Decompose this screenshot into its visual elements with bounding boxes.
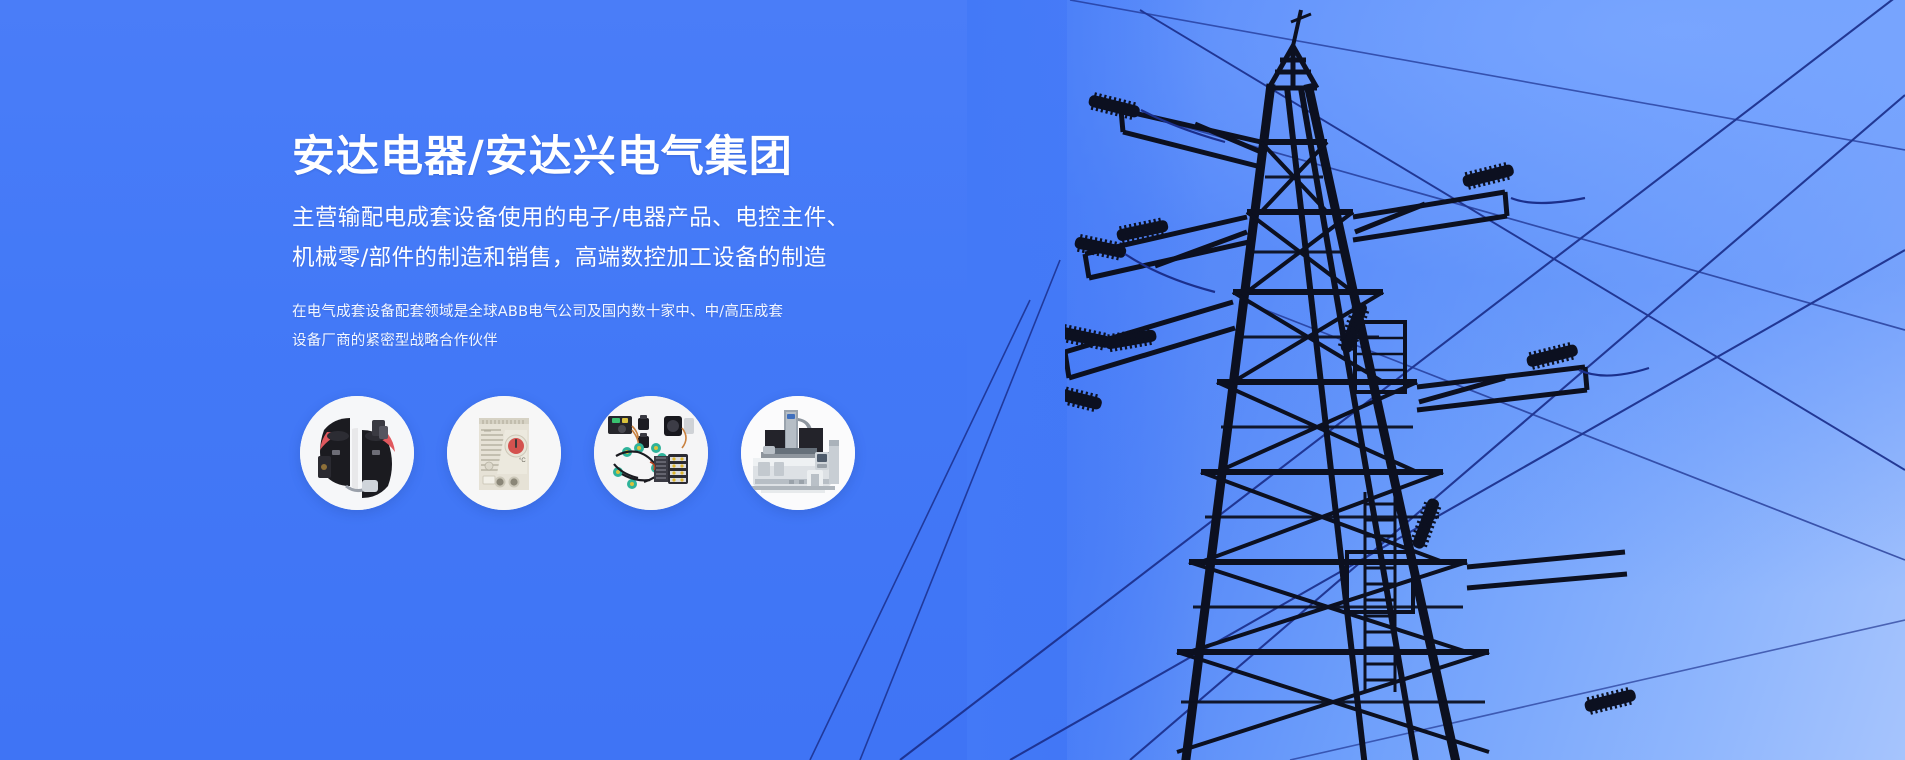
- banner-copy: 安达电器/安达兴电气集团 主营输配电成套设备使用的电子/电器产品、电控主件、 机…: [292, 133, 912, 355]
- hero-banner: 安达电器/安达兴电气集团 主营输配电成套设备使用的电子/电器产品、电控主件、 机…: [0, 0, 1905, 760]
- note-line-2: 设备厂商的紧密型战略合作伙伴: [292, 327, 912, 355]
- page-title: 安达电器/安达兴电气集团: [292, 133, 912, 181]
- subtitle-line-2: 机械零/部件的制造和销售，高端数控加工设备的制造: [292, 238, 912, 278]
- note-line-1: 在电气成套设备配套领域是全球ABB电气公司及国内数十家中、中/高压成套: [292, 298, 912, 326]
- subtitle-line-1: 主营输配电成套设备使用的电子/电器产品、电控主件、: [292, 198, 912, 238]
- thumbnail-cnc-machining-center[interactable]: [741, 396, 855, 510]
- product-thumbnail-list: °C: [300, 396, 855, 510]
- svg-text:°C: °C: [519, 458, 526, 464]
- thumbnail-electronic-components[interactable]: [594, 396, 708, 510]
- transmission-tower-photo: [1065, 0, 1705, 760]
- thumbnail-current-transformer[interactable]: [300, 396, 414, 510]
- thumbnail-cabinet-thermostat[interactable]: °C: [447, 396, 561, 510]
